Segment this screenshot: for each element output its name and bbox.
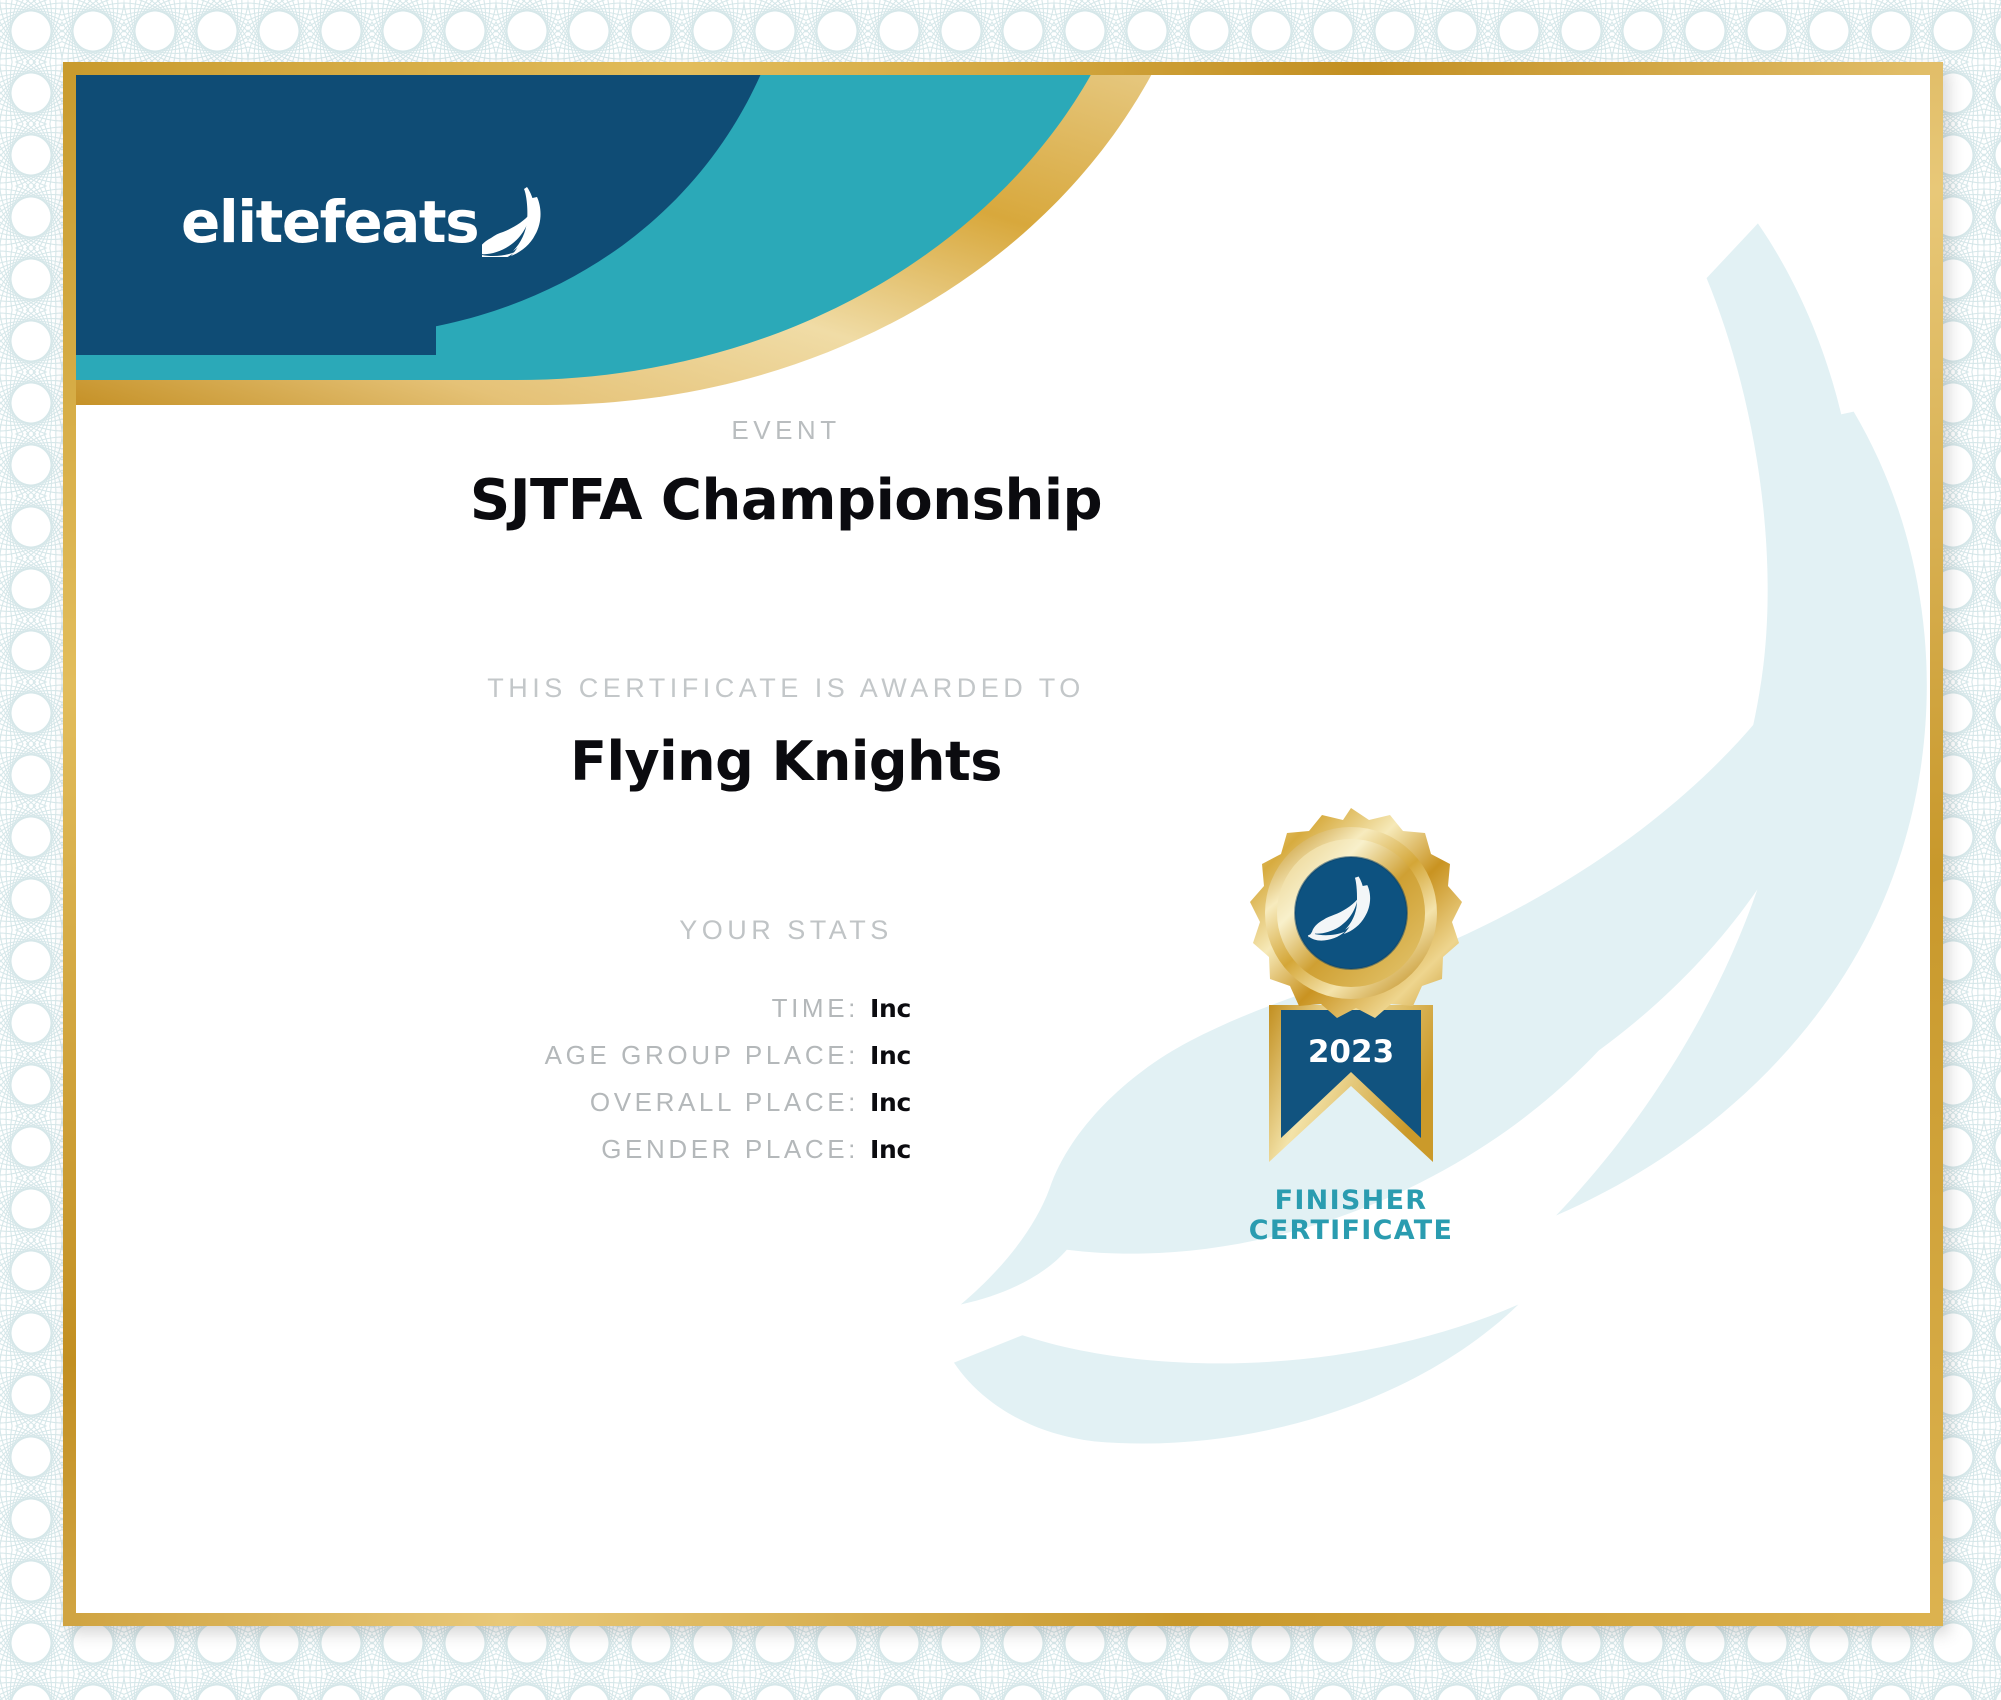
gold-frame: elitefeats EVENT SJTFA Championship THIS… — [63, 62, 1943, 1626]
stat-value: Inc — [870, 1041, 911, 1070]
stat-label: AGE GROUP PLACE: — [545, 1040, 859, 1071]
stat-value: Inc — [870, 1088, 911, 1117]
stat-label: GENDER PLACE: — [601, 1134, 859, 1165]
certificate-content: EVENT SJTFA Championship THIS CERTIFICAT… — [76, 75, 1930, 1613]
recipient-name: Flying Knights — [76, 730, 1496, 793]
awarded-to-label: THIS CERTIFICATE IS AWARDED TO — [76, 673, 1496, 704]
badge-caption-line-1: FINISHER — [1206, 1186, 1496, 1216]
finisher-badge: 2023 — [1206, 790, 1496, 1240]
badge-year-text: 2023 — [1308, 1034, 1394, 1070]
certificate-page: elitefeats EVENT SJTFA Championship THIS… — [0, 0, 2001, 1700]
event-name: SJTFA Championship — [76, 468, 1496, 533]
event-label: EVENT — [76, 415, 1496, 446]
stat-value: Inc — [870, 994, 911, 1023]
stat-label: TIME: — [772, 993, 859, 1024]
stat-label: OVERALL PLACE: — [590, 1087, 859, 1118]
badge-caption-line-2: CERTIFICATE — [1206, 1216, 1496, 1246]
badge-caption: FINISHER CERTIFICATE — [1206, 1186, 1496, 1246]
stat-value: Inc — [870, 1135, 911, 1164]
medal-ribbon-icon: 2023 — [1206, 790, 1496, 1190]
